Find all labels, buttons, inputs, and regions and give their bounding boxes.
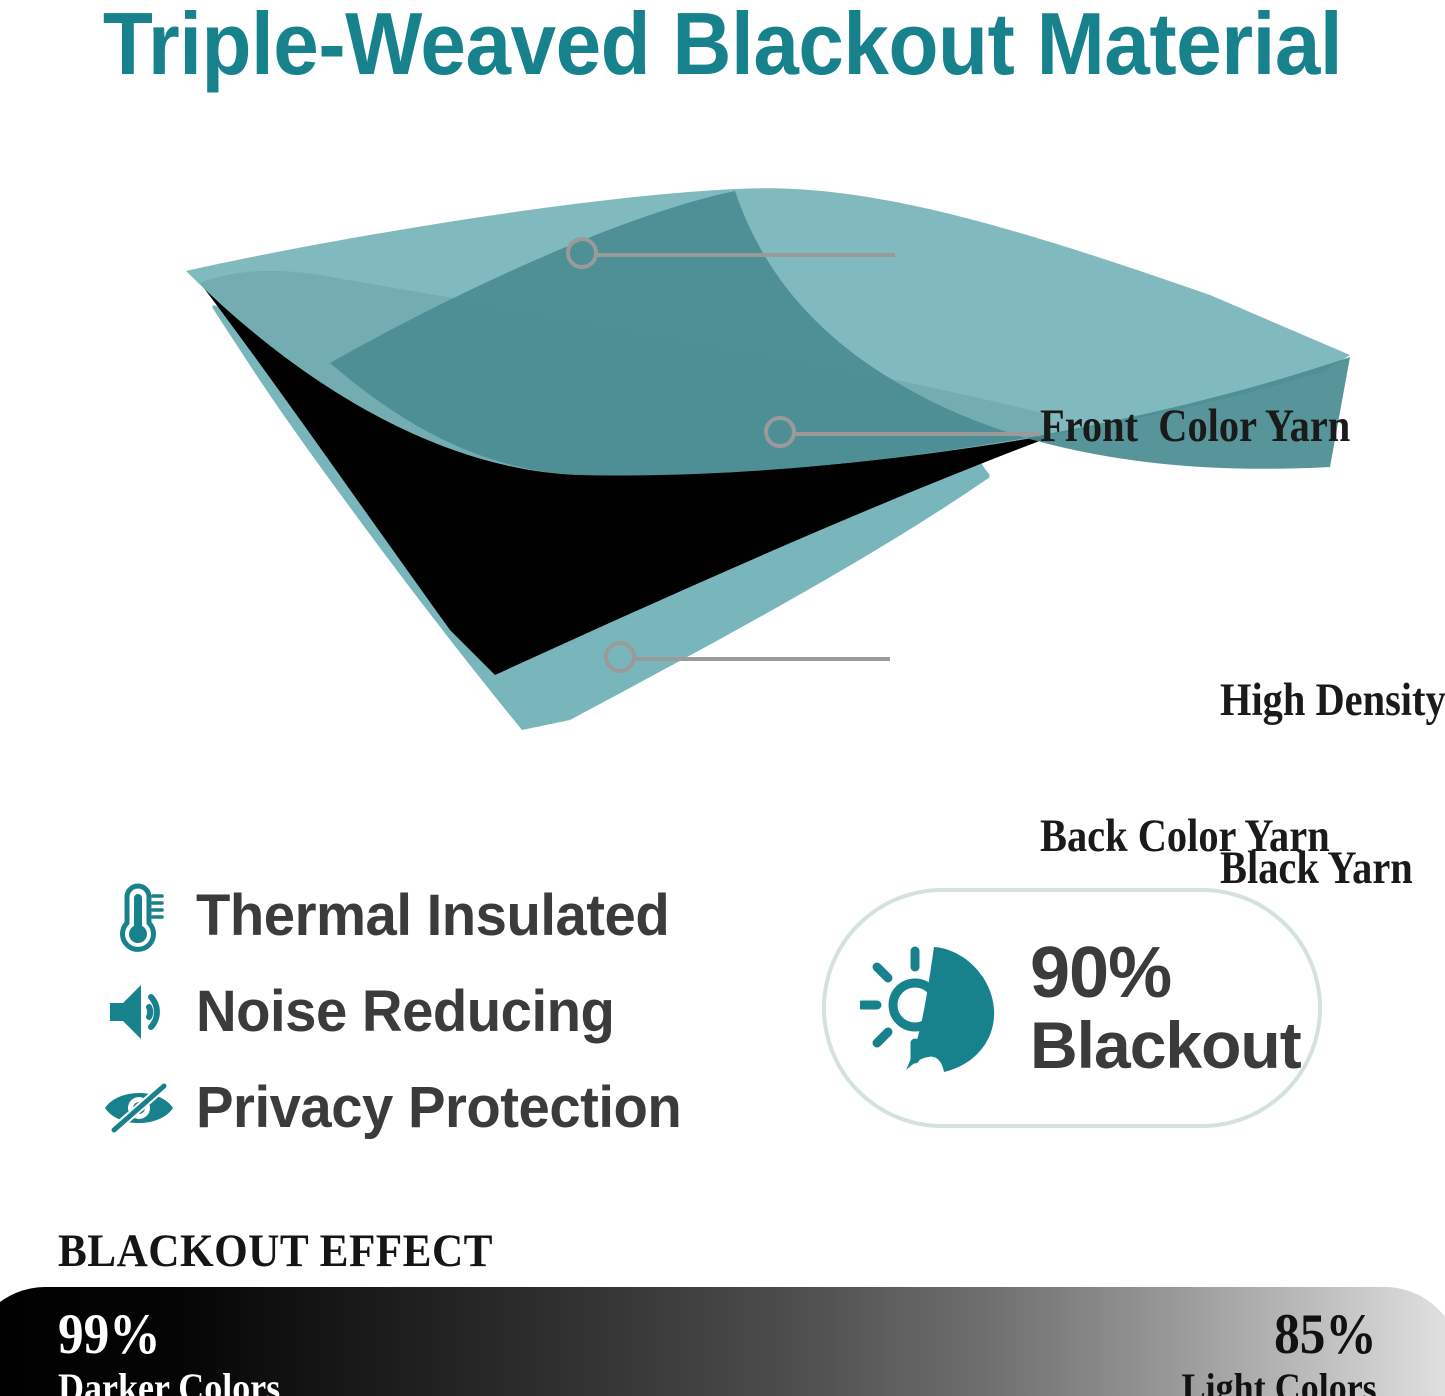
blackout-badge: 90% Blackout: [822, 888, 1322, 1128]
feature-label-privacy-protection: Privacy Protection: [196, 1077, 681, 1139]
badge-text-block: 90% Blackout: [1030, 936, 1301, 1080]
label-front-color-yarn: Front Color Yarn: [1040, 397, 1350, 455]
feature-label-noise-reducing: Noise Reducing: [196, 981, 614, 1043]
badge-word: Blackout: [1030, 1010, 1301, 1080]
feature-label-thermal-insulated: Thermal Insulated: [196, 885, 669, 947]
fabric-layers-diagram: Front Color Yarn High Density Black Yarn…: [150, 175, 1350, 755]
blackout-effect-left-stat: 99% Darker Colors: [58, 1305, 280, 1396]
badge-percent: 90%: [1030, 936, 1171, 1010]
blackout-effect-heading: BLACKOUT EFFECT: [58, 1224, 493, 1278]
label-high-density-line1: High Density: [1220, 672, 1445, 728]
label-back-color-yarn: Back Color Yarn: [1040, 807, 1330, 865]
right-caption: Light Colors: [1182, 1365, 1377, 1396]
infographic-page: Triple-Weaved Blackout Material: [0, 0, 1445, 1396]
feature-item-privacy-protection: Privacy Protection: [100, 1064, 760, 1152]
blackout-effect-right-stat: 85% Light Colors: [1182, 1305, 1377, 1396]
eye-slash-icon: [100, 1080, 178, 1136]
feature-item-noise-reducing: Noise Reducing: [100, 968, 760, 1056]
right-percent: 85%: [1182, 1305, 1377, 1365]
left-caption: Darker Colors: [58, 1365, 280, 1396]
page-title: Triple-Weaved Blackout Material: [51, 0, 1395, 94]
left-percent: 99%: [58, 1305, 280, 1365]
sun-blocked-icon: [826, 933, 1026, 1083]
feature-list: Thermal Insulated Noise Reducing: [100, 872, 760, 1160]
thermometer-icon: [100, 880, 178, 952]
feature-item-thermal-insulated: Thermal Insulated: [100, 872, 760, 960]
speaker-icon: [100, 981, 178, 1043]
